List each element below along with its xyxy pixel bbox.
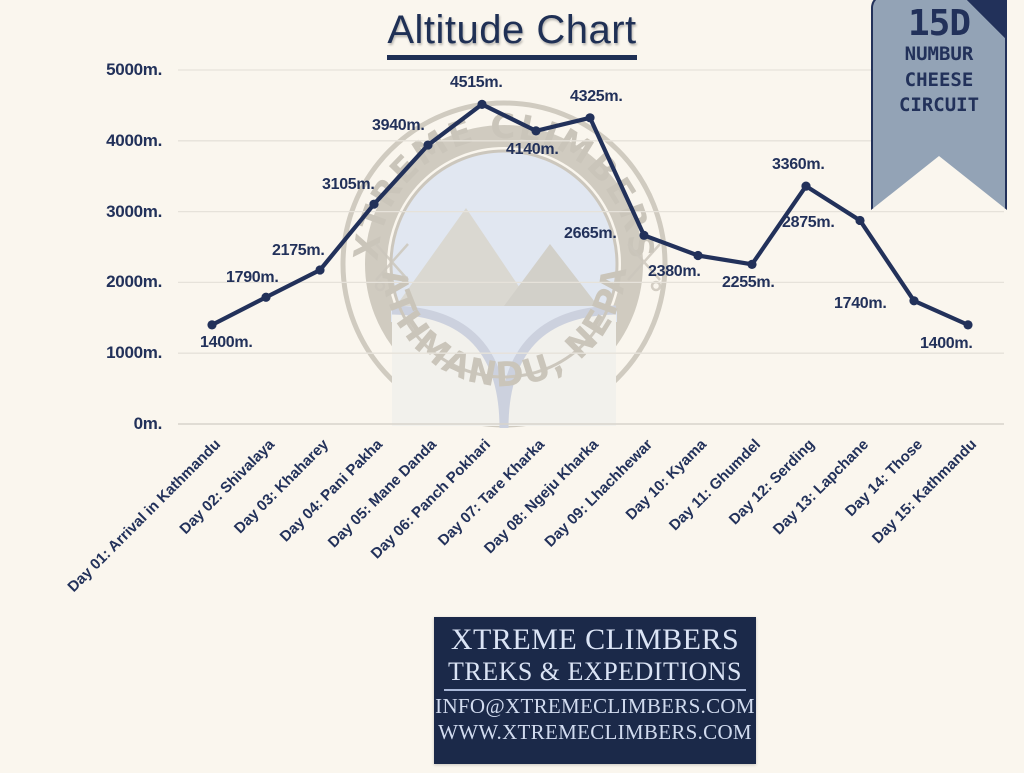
data-point-marker[interactable] <box>801 182 810 191</box>
data-point-marker[interactable] <box>315 265 324 274</box>
data-point-marker[interactable] <box>423 140 432 149</box>
y-axis-tick-label: 3000m. <box>52 202 162 222</box>
altitude-line-series <box>212 104 968 325</box>
data-point-label: 4325m. <box>570 88 622 106</box>
y-axis-tick-label: 0m. <box>52 414 162 434</box>
ribbon-line-2: CHEESE <box>873 68 1005 94</box>
data-point-label: 4515m. <box>450 74 502 92</box>
data-point-label: 1400m. <box>920 335 972 353</box>
data-point-label: 2175m. <box>272 242 324 260</box>
y-axis-tick-label: 5000m. <box>52 60 162 80</box>
data-point-marker[interactable] <box>477 100 486 109</box>
data-point-marker[interactable] <box>639 231 648 240</box>
company-name: XTREME CLIMBERS <box>434 617 756 657</box>
data-point-marker[interactable] <box>747 260 756 269</box>
data-point-label: 3940m. <box>372 117 424 135</box>
data-point-marker[interactable] <box>909 296 918 305</box>
data-point-label: 1740m. <box>834 295 886 313</box>
data-point-marker[interactable] <box>693 251 702 260</box>
data-point-label: 3360m. <box>772 156 824 174</box>
data-point-label: 2380m. <box>648 263 700 281</box>
data-point-marker[interactable] <box>531 126 540 135</box>
data-point-marker[interactable] <box>963 320 972 329</box>
data-point-label: 2255m. <box>722 274 774 292</box>
ribbon-duration: 15D <box>873 6 1005 42</box>
ribbon-line-1: NUMBUR <box>873 42 1005 68</box>
data-point-marker[interactable] <box>261 293 270 302</box>
data-point-label: 3105m. <box>322 176 374 194</box>
company-tagline: TREKS & EXPEDITIONS <box>444 657 746 691</box>
company-logo-box: XTREME CLIMBERS TREKS & EXPEDITIONS INFO… <box>434 617 756 764</box>
y-axis-tick-label: 2000m. <box>52 272 162 292</box>
ribbon-line-3: CIRCUIT <box>873 93 1005 119</box>
data-point-label: 2665m. <box>564 225 616 243</box>
y-axis-tick-label: 4000m. <box>52 131 162 151</box>
company-website: WWW.XTREMECLIMBERS.COM <box>434 720 756 746</box>
data-point-label: 1400m. <box>200 334 252 352</box>
data-point-marker[interactable] <box>207 320 216 329</box>
data-point-marker[interactable] <box>855 216 864 225</box>
data-point-marker[interactable] <box>369 200 378 209</box>
data-point-marker[interactable] <box>585 113 594 122</box>
data-point-label: 4140m. <box>506 141 558 159</box>
data-point-label: 2875m. <box>782 214 834 232</box>
data-point-label: 1790m. <box>226 269 278 287</box>
company-email: INFO@XTREMECLIMBERS.COM <box>434 694 756 720</box>
y-axis-tick-label: 1000m. <box>52 343 162 363</box>
